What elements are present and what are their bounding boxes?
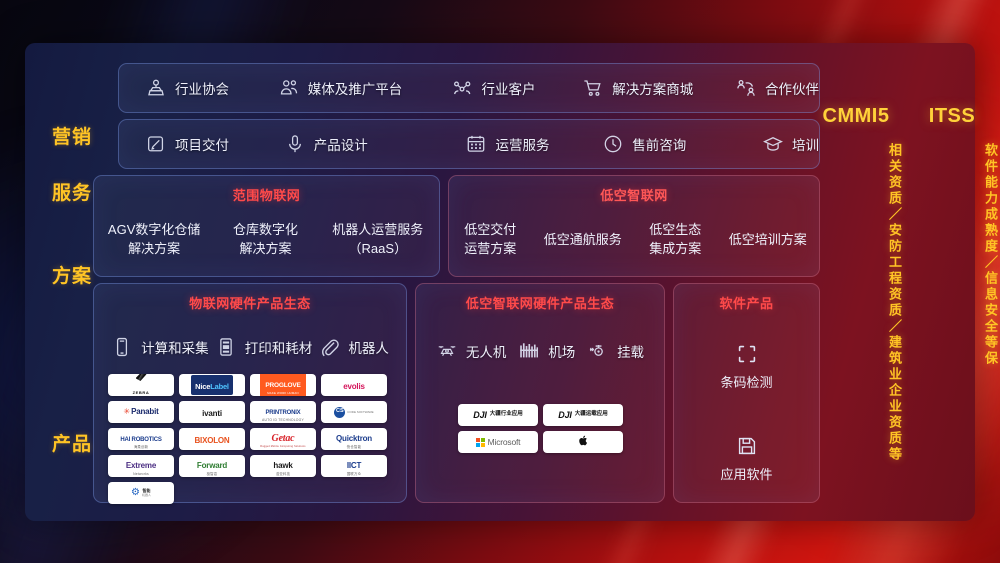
marketing-item-industry-customer[interactable]: 行业客户 <box>451 77 582 99</box>
solution-group-title: 低空智联网 <box>449 185 819 204</box>
partner-logo[interactable]: DJI大疆行业应用 <box>458 404 538 426</box>
partner-logo-mark: HAI ROBOTICS <box>120 437 161 443</box>
partner-logo-mark: DJI <box>558 411 571 420</box>
solution-item[interactable]: 低空通航服务 <box>537 230 629 249</box>
software-item-label: 条码检测 <box>674 372 819 391</box>
iot-partner-logo-grid: ZEBRANiceLabelPROGLOVEMAKE WORK HUMANevo… <box>108 374 392 504</box>
service-item-presales-consulting[interactable]: 售前咨询 <box>602 133 762 155</box>
cert-description: 相关资质／安防工程资质／建筑业企业资质等 <box>808 143 904 473</box>
product-icon-label: 挂载 <box>617 341 644 361</box>
clock-icon <box>602 133 624 155</box>
row-label-marketing: 营销 <box>37 122 107 149</box>
shopping-cart-icon <box>582 77 604 99</box>
product-icon-robot[interactable]: 机器人 <box>318 336 389 358</box>
org-network-icon <box>451 77 473 99</box>
marketing-item-label: 行业客户 <box>481 78 535 98</box>
product-icon-compute-collect[interactable]: 计算和采集 <box>111 336 209 358</box>
service-item-label: 运营服务 <box>495 134 549 154</box>
partner-logo-mark: Microsoft <box>488 438 521 447</box>
product-icon-label: 机场 <box>548 341 575 361</box>
graduation-cap-icon <box>762 133 784 155</box>
partner-logo-subtext: 快仓智能 <box>336 446 372 449</box>
partner-logo[interactable]: ✳Panabit <box>108 401 174 423</box>
marketing-item-label: 媒体及推广平台 <box>308 78 403 98</box>
partner-logo[interactable] <box>543 431 623 453</box>
marketing-item-media-promotion[interactable]: 媒体及推广平台 <box>278 77 452 99</box>
lowaltitude-partner-logo-grid: DJI大疆行业应用DJI大疆运载应用Microsoft <box>458 404 626 453</box>
partner-logo[interactable]: GetacRugged Mobile Computing Solutions <box>250 428 316 450</box>
airport-icon <box>518 340 540 362</box>
payload-mount-icon <box>587 340 609 362</box>
marketing-item-label: 解决方案商城 <box>612 78 693 98</box>
partner-logo[interactable]: evolis <box>321 374 387 396</box>
partner-logo[interactable]: ZEBRA <box>108 374 174 396</box>
marketing-item-label: 行业协会 <box>175 78 229 98</box>
slide-canvas: 营销 服务 方案 产品 行业协会 媒体及推广平台 行业客 <box>0 0 1000 563</box>
partner-logo-subtext: CODE SOFTWARE <box>347 411 373 414</box>
printer-ribbon-icon <box>215 336 237 358</box>
product-group-title: 低空智联网硬件产品生态 <box>416 293 664 312</box>
partner-logo-mark: DJI <box>473 411 486 420</box>
service-item-product-design[interactable]: 产品设计 <box>284 133 466 155</box>
partner-logo-subtext: AUTO ID TECHNOLOGY <box>262 419 304 422</box>
partner-logo-mark: hawk <box>273 461 292 470</box>
service-item-label: 售前咨询 <box>632 134 686 154</box>
panabit-star-icon: ✳ <box>123 408 130 416</box>
product-icon-label: 计算和采集 <box>141 337 209 357</box>
marketing-panel: 行业协会 媒体及推广平台 行业客户 解决方案商城 <box>118 63 820 113</box>
partner-logo[interactable]: NiceLabel <box>179 374 245 396</box>
paperclip-robot-icon <box>318 336 340 358</box>
product-group-lowaltitude-panel: 低空智联网硬件产品生态 无人机 机场 挂载 DJI大疆行业应用DJ <box>415 283 665 503</box>
partner-logo[interactable]: ivanti <box>179 401 245 423</box>
product-group-title: 物联网硬件产品生态 <box>94 293 406 312</box>
people-group-icon <box>278 77 300 99</box>
partner-logo-mark: evolis <box>343 382 364 391</box>
partner-logo-subtext: 机器人 <box>142 494 151 497</box>
product-group-title: 软件产品 <box>674 293 819 312</box>
partner-logo-mark: CS <box>334 407 345 418</box>
solution-item[interactable]: 低空交付 运营方案 <box>454 220 526 258</box>
microsoft-squares-icon <box>476 438 485 447</box>
gear-icon: ⚙ <box>131 488 140 498</box>
software-item-label: 应用软件 <box>674 464 819 483</box>
calendar-icon <box>465 133 487 155</box>
partner-logo-subtext: ZEBRA <box>133 390 150 395</box>
product-group-iot-panel: 物联网硬件产品生态 计算和采集 打印和耗材 机器人 ZEBRANi <box>93 283 407 503</box>
product-icon-airport[interactable]: 机场 <box>518 340 575 362</box>
cert-column-itss: ITSS 软件能力成熟度／信息安全等保 <box>904 43 1000 521</box>
partner-logo-subtext: 国联万众 <box>347 473 361 476</box>
product-icon-label: 打印和耗材 <box>245 337 313 357</box>
partner-logo[interactable]: CSCODE SOFTWARE <box>321 401 387 423</box>
drone-icon <box>436 340 458 362</box>
partner-logo-mark: Extreme <box>126 461 156 470</box>
partner-logo-mark: Quicktron <box>336 434 372 443</box>
solution-item[interactable]: 低空培训方案 <box>722 230 814 249</box>
partner-logo-mark: Panabit <box>131 408 159 416</box>
partner-logo[interactable]: IICT国联万众 <box>321 455 387 477</box>
partner-logo-subtext: 海柔创新 <box>120 446 161 449</box>
solution-group-iot-panel: 范围物联网 AGV数字化仓储 解决方案 仓库数字化 解决方案 机器人运营服务 （… <box>93 175 440 277</box>
microphone-icon <box>284 133 306 155</box>
zebra-mark-icon <box>136 374 147 381</box>
solution-group-title: 范围物联网 <box>94 185 439 204</box>
marketing-item-partners[interactable]: 合作伙伴 <box>735 77 819 99</box>
mobile-device-icon <box>111 336 133 358</box>
product-group-software-panel: 软件产品 条码检测 应用软件 <box>673 283 820 503</box>
partner-logo-mark: Getac <box>272 433 295 444</box>
floppy-disk-icon <box>735 434 759 458</box>
partner-logo[interactable]: Quicktron快仓智能 <box>321 428 387 450</box>
product-icon-label: 机器人 <box>348 337 389 357</box>
partner-logo-mark: ivanti <box>202 409 222 418</box>
software-item-barcode[interactable]: 条码检测 <box>674 342 819 391</box>
cert-title: CMMI5 <box>808 105 904 128</box>
partner-logo[interactable]: BIXOLON <box>179 428 245 450</box>
barcode-scan-frame-icon <box>735 342 759 366</box>
partner-logo-mark: NiceLabel <box>195 382 229 391</box>
handshake-partners-icon <box>735 77 757 99</box>
cert-title: ITSS <box>904 105 1000 128</box>
solution-item[interactable]: AGV数字化仓储 解决方案 <box>100 220 208 258</box>
marketing-item-solution-mall[interactable]: 解决方案商城 <box>582 77 735 99</box>
partner-logo-subtext: Rugged Mobile Computing Solutions <box>260 446 305 448</box>
apple-logo-icon <box>577 434 590 447</box>
certification-strip: CMMI5 相关资质／安防工程资质／建筑业企业资质等 ITSS 软件能力成熟度／… <box>808 43 1000 521</box>
product-icon-label: 无人机 <box>466 341 507 361</box>
service-item-project-delivery[interactable]: 项目交付 <box>145 133 284 155</box>
service-panel: 项目交付 产品设计 运营服务 售前咨询 <box>118 119 820 169</box>
product-icon-print-consumable[interactable]: 打印和耗材 <box>215 336 313 358</box>
partner-logo-subtext: Networks <box>126 473 156 476</box>
partner-logo[interactable]: ExtremeNetworks <box>108 455 174 477</box>
partner-logo[interactable]: HAI ROBOTICS海柔创新 <box>108 428 174 450</box>
partner-logo-mark: IICT <box>347 461 361 470</box>
partner-logo-subtext: 浩亚科技 <box>273 473 292 476</box>
partner-logo[interactable]: hawk浩亚科技 <box>250 455 316 477</box>
product-icon-payload[interactable]: 挂载 <box>587 340 644 362</box>
solution-item[interactable]: 低空生态 集成方案 <box>639 220 711 258</box>
partner-logo-subtext: 大疆运载应用 <box>575 412 608 418</box>
partner-logo[interactable]: PROGLOVEMAKE WORK HUMAN <box>250 374 316 396</box>
partner-logo-subtext: 大疆行业应用 <box>490 412 523 418</box>
partner-logo[interactable]: DJI大疆运载应用 <box>543 404 623 426</box>
partner-logo-subtext: MAKE WORK HUMAN <box>265 392 300 395</box>
partner-logo-mark: PRINTRONIX <box>265 410 300 416</box>
partner-logo[interactable]: PRINTRONIXAUTO ID TECHNOLOGY <box>250 401 316 423</box>
solution-item[interactable]: 机器人运营服务 （RaaS） <box>323 220 433 258</box>
partner-logo[interactable]: Forward极智嘉 <box>179 455 245 477</box>
partner-logo-mark: BIXOLON <box>194 436 229 445</box>
podium-speaker-icon <box>145 77 167 99</box>
service-item-label: 产品设计 <box>314 134 368 154</box>
partner-logo[interactable]: Microsoft <box>458 431 538 453</box>
cert-description: 软件能力成熟度／信息安全等保 <box>904 143 1000 473</box>
pencil-square-icon <box>145 133 167 155</box>
product-icon-drone[interactable]: 无人机 <box>436 340 507 362</box>
solution-item[interactable]: 仓库数字化 解决方案 <box>220 220 310 258</box>
software-item-application[interactable]: 应用软件 <box>674 434 819 483</box>
partner-logo[interactable]: ⚙智能机器人 <box>108 482 174 504</box>
solution-group-lowaltitude-panel: 低空智联网 低空交付 运营方案 低空通航服务 低空生态 集成方案 低空培训方案 <box>448 175 820 277</box>
cert-column-cmmi5: CMMI5 相关资质／安防工程资质／建筑业企业资质等 <box>808 43 904 521</box>
partner-logo-subtext: 极智嘉 <box>197 473 227 476</box>
service-item-operation-service[interactable]: 运营服务 <box>465 133 602 155</box>
service-item-label: 项目交付 <box>175 134 229 154</box>
partner-logo-mark: PROGLOVE <box>265 382 300 389</box>
partner-logo-mark: Forward <box>197 461 227 470</box>
marketing-item-industry-association[interactable]: 行业协会 <box>145 77 278 99</box>
